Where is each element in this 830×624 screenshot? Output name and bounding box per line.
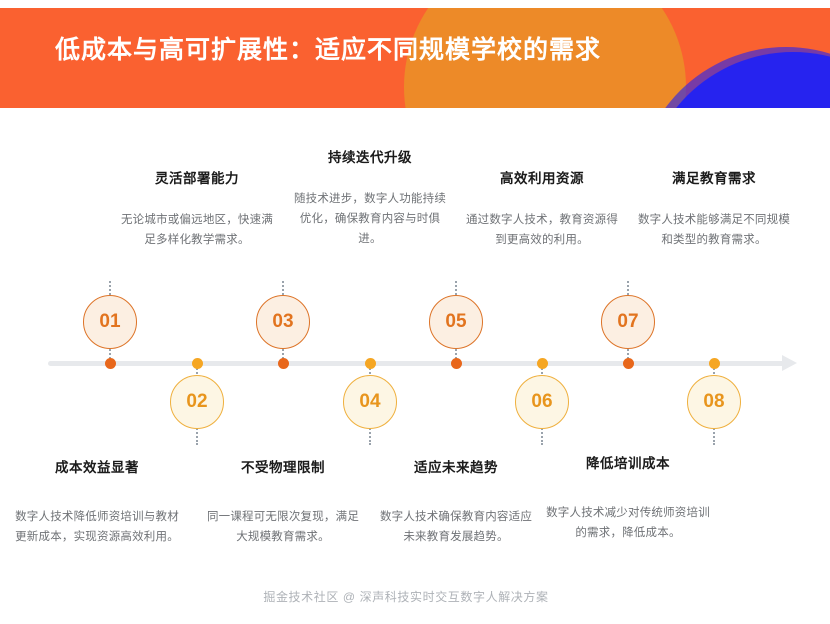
timeline-label-description: 数字人技术减少对传统师资培训的需求，降低成本。 (546, 503, 711, 544)
timeline-step-circle[interactable]: 02 (170, 375, 224, 429)
page-title: 低成本与高可扩展性：适应不同规模学校的需求 (55, 30, 601, 66)
timeline-label-title: 不受物理限制 (203, 459, 363, 477)
timeline-label-title: 持续迭代升级 (290, 149, 450, 167)
timeline-step-circle[interactable]: 08 (687, 375, 741, 429)
timeline-label-title: 满足教育需求 (634, 170, 794, 188)
timeline-label-title: 适应未来趋势 (376, 459, 536, 477)
timeline-label-description: 同一课程可无限次复现，满足大规模教育需求。 (203, 507, 363, 548)
timeline-label-block: 满足教育需求数字人技术能够满足不同规模和类型的教育需求。 (634, 170, 794, 250)
timeline-node-dot (278, 358, 289, 369)
timeline-label-description: 随技术进步，数字人功能持续优化，确保教育内容与时俱进。 (290, 189, 450, 250)
infographic-page: 低成本与高可扩展性：适应不同规模学校的需求 0102030405060708 灵… (0, 0, 830, 624)
timeline-label-block: 高效利用资源通过数字人技术，教育资源得到更高效的利用。 (462, 170, 622, 250)
timeline-label-description: 数字人技术能够满足不同规模和类型的教育需求。 (634, 210, 794, 251)
timeline-label-block: 不受物理限制同一课程可无限次复现，满足大规模教育需求。 (203, 459, 363, 547)
timeline-label-description: 无论城市或偏远地区，快速满足多样化教学需求。 (117, 210, 277, 251)
timeline-node-dot (365, 358, 376, 369)
timeline-label-description: 数字人技术确保教育内容适应未来教育发展趋势。 (376, 507, 536, 548)
timeline-arrow-icon (782, 355, 797, 371)
footer-credit: 掘金技术社区 @ 深声科技实时交互数字人解决方案 (0, 588, 830, 605)
timeline-step-circle[interactable]: 03 (256, 295, 310, 349)
timeline-label-title: 降低培训成本 (546, 455, 711, 473)
timeline-label-block: 灵活部署能力无论城市或偏远地区，快速满足多样化教学需求。 (117, 170, 277, 250)
timeline-node-dot (709, 358, 720, 369)
timeline-node-dot (451, 358, 462, 369)
timeline-label-description: 通过数字人技术，教育资源得到更高效的利用。 (462, 210, 622, 251)
timeline-node-dot (623, 358, 634, 369)
timeline-step-circle[interactable]: 04 (343, 375, 397, 429)
timeline-label-title: 高效利用资源 (462, 170, 622, 188)
timeline-node-dot (105, 358, 116, 369)
timeline-node-dot (192, 358, 203, 369)
timeline-step-circle[interactable]: 07 (601, 295, 655, 349)
timeline-label-block: 降低培训成本数字人技术减少对传统师资培训的需求，降低成本。 (546, 455, 711, 543)
timeline-step-circle[interactable]: 05 (429, 295, 483, 349)
timeline-label-block: 持续迭代升级随技术进步，数字人功能持续优化，确保教育内容与时俱进。 (290, 149, 450, 250)
timeline-label-title: 灵活部署能力 (117, 170, 277, 188)
timeline-label-block: 成本效益显著数字人技术降低师资培训与教材更新成本，实现资源高效利用。 (15, 459, 180, 547)
timeline-step-circle[interactable]: 01 (83, 295, 137, 349)
timeline-label-title: 成本效益显著 (15, 459, 180, 477)
timeline-axis (48, 361, 786, 366)
timeline-label-block: 适应未来趋势数字人技术确保教育内容适应未来教育发展趋势。 (376, 459, 536, 547)
timeline-node-dot (537, 358, 548, 369)
timeline-label-description: 数字人技术降低师资培训与教材更新成本，实现资源高效利用。 (15, 507, 180, 548)
timeline-step-circle[interactable]: 06 (515, 375, 569, 429)
